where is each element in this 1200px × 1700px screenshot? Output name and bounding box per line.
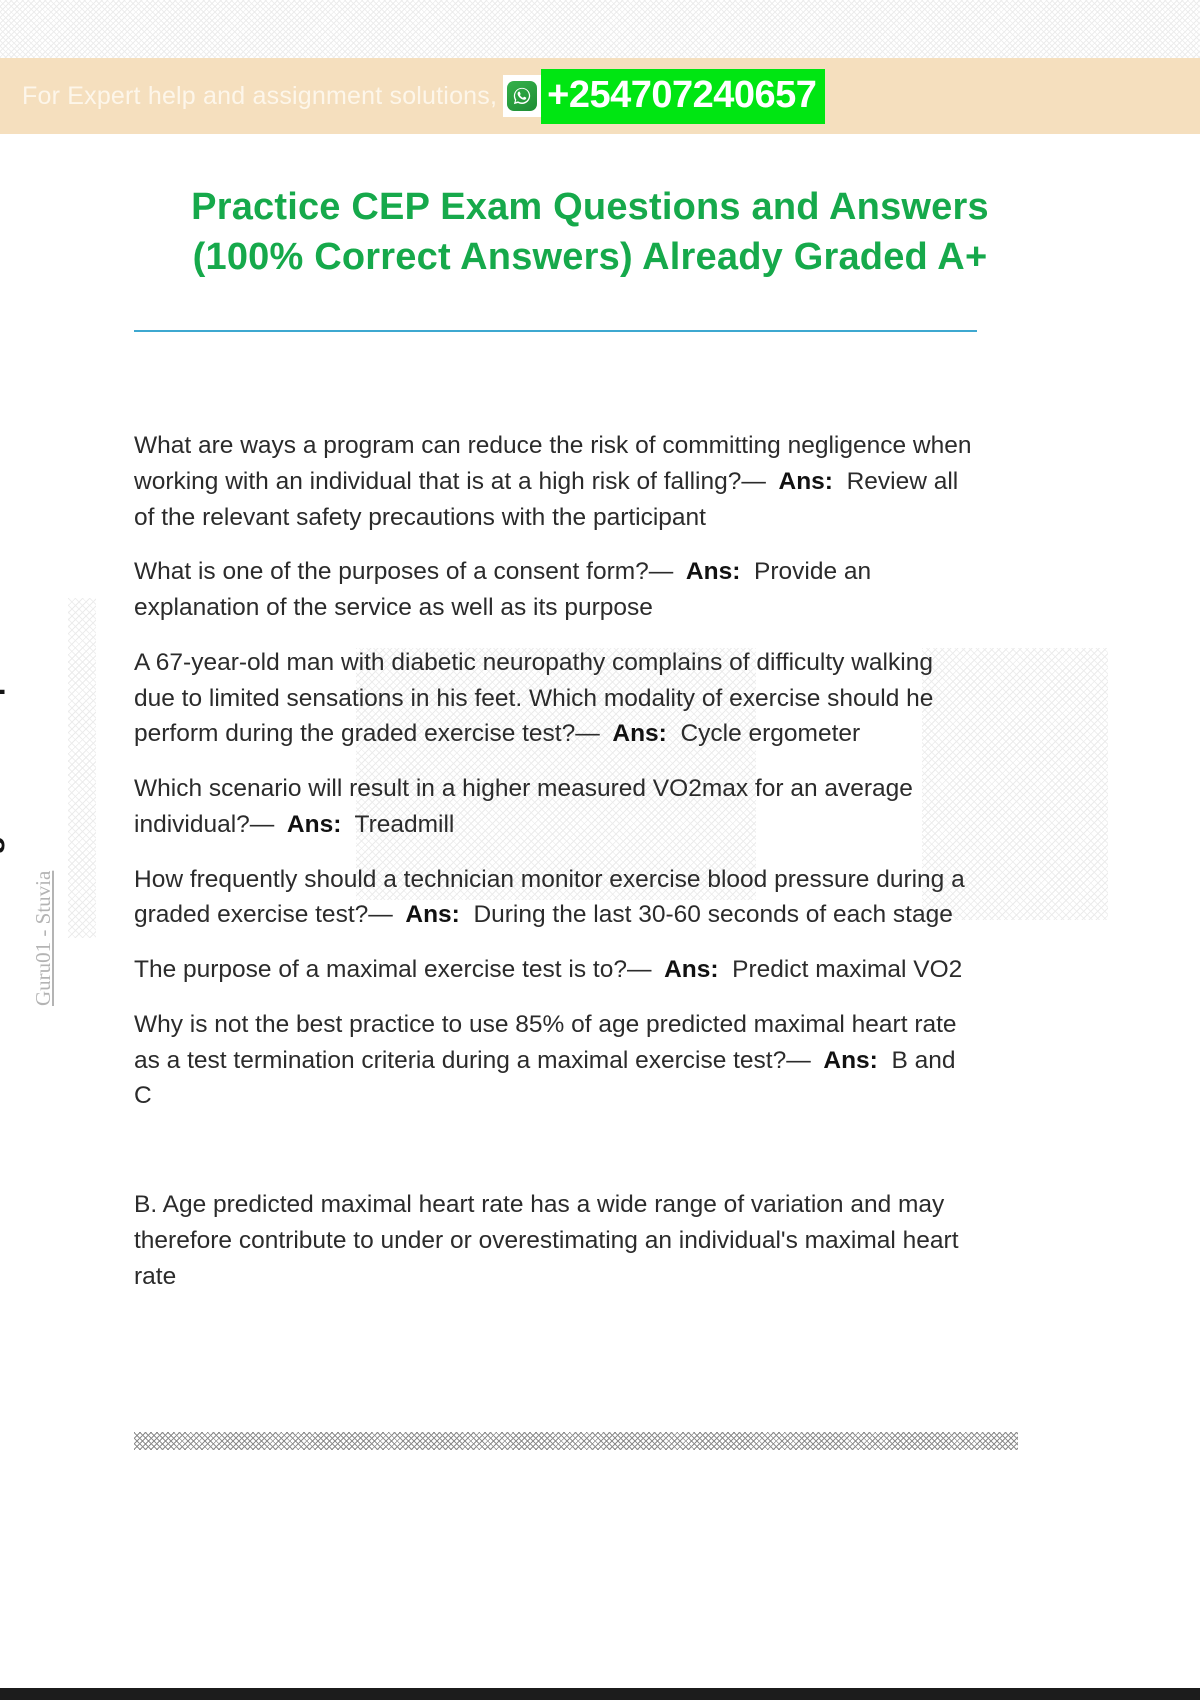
top-paper-texture — [0, 0, 1200, 58]
whatsapp-icon — [503, 75, 541, 117]
qa-separator: — — [368, 901, 392, 928]
answer-label: Ans: — [664, 956, 718, 983]
side-watermark: © 2025 Assignment Expert Guru01 - Stuvia — [0, 548, 90, 1028]
whatsapp-contact-badge[interactable]: +254707240657 — [503, 69, 825, 124]
qa-separator: — — [627, 956, 651, 983]
title-divider — [134, 330, 977, 332]
footer-bar — [0, 1688, 1200, 1700]
question-text: What is one of the purposes of a consent… — [134, 558, 649, 585]
qa-item: Why is not the best practice to use 85% … — [134, 1007, 979, 1114]
qa-separator: — — [786, 1047, 810, 1074]
qa-item: What is one of the purposes of a consent… — [134, 554, 979, 626]
qa-separator: — — [741, 468, 765, 495]
answer-label: Ans: — [287, 811, 341, 838]
author-watermark: Guru01 - Stuvia — [31, 871, 56, 1006]
qa-separator: — — [649, 558, 673, 585]
answer-text: Treadmill — [355, 811, 455, 838]
content-spacer — [134, 1133, 979, 1187]
document-page: For Expert help and assignment solutions… — [0, 0, 1200, 1700]
whatsapp-phone-number[interactable]: +254707240657 — [541, 69, 825, 124]
qa-item: How frequently should a technician monit… — [134, 862, 979, 934]
qa-item: A 67-year-old man with diabetic neuropat… — [134, 645, 979, 752]
answer-label: Ans: — [823, 1047, 877, 1074]
copyright-watermark: © 2025 Assignment Expert — [0, 638, 6, 1028]
answer-label: Ans: — [686, 558, 740, 585]
answer-text: Cycle ergometer — [680, 720, 860, 747]
answer-text: Predict maximal VO2 — [732, 956, 962, 983]
answer-label: Ans: — [405, 901, 459, 928]
footer-texture-band — [134, 1432, 1018, 1450]
answer-text: During the last 30-60 seconds of each st… — [473, 901, 952, 928]
answer-label: Ans: — [779, 468, 833, 495]
whatsapp-glyph — [507, 81, 537, 111]
qa-separator: — — [575, 720, 599, 747]
qa-item: The purpose of a maximal exercise test i… — [134, 952, 979, 988]
qa-item: What are ways a program can reduce the r… — [134, 428, 979, 535]
explanation-paragraph: B. Age predicted maximal heart rate has … — [134, 1187, 979, 1294]
qa-item: Which scenario will result in a higher m… — [134, 771, 979, 843]
question-text: The purpose of a maximal exercise test i… — [134, 956, 627, 983]
promo-banner: For Expert help and assignment solutions… — [0, 58, 1200, 134]
page-title: Practice CEP Exam Questions and Answers … — [140, 182, 1040, 282]
qa-separator: — — [250, 811, 274, 838]
answer-label: Ans: — [612, 720, 666, 747]
qa-content: What are ways a program can reduce the r… — [134, 428, 979, 1295]
promo-banner-text: For Expert help and assignment solutions… — [22, 82, 497, 111]
